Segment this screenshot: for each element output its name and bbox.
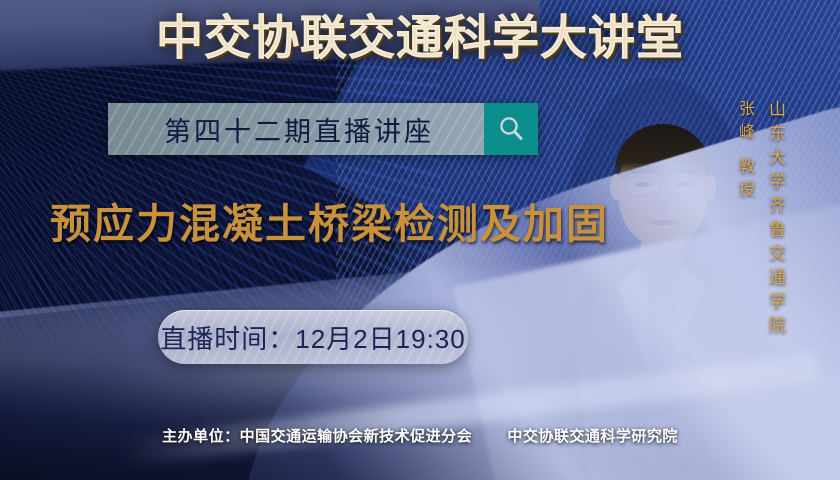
search-button[interactable] xyxy=(484,103,538,155)
livestream-poster: 中交协联交通科学大讲堂 第四十二期直播讲座 预应力混凝土桥梁检测及加固 直播时间… xyxy=(0,0,840,480)
session-label: 第四十二期直播讲座 xyxy=(108,103,484,155)
speaker-affiliation: 山东大学齐鲁交通学院 xyxy=(763,100,788,340)
speaker-name: 张峰 教授 xyxy=(732,100,756,203)
footer-organizer: 主办单位：中国交通运输协会新技术促进分会 xyxy=(162,425,472,446)
broadcast-time-badge: 直播时间：12月2日19:30 xyxy=(158,310,468,364)
lecture-title: 预应力混凝土桥梁检测及加固 xyxy=(50,190,609,250)
search-icon xyxy=(496,114,526,144)
page-title: 中交协联交通科学大讲堂 xyxy=(0,14,840,61)
footer: 主办单位：中国交通运输协会新技术促进分会 中交协联交通科学研究院 xyxy=(0,425,840,446)
footer-institute: 中交协联交通科学研究院 xyxy=(507,425,678,446)
session-bar[interactable]: 第四十二期直播讲座 xyxy=(108,103,538,155)
